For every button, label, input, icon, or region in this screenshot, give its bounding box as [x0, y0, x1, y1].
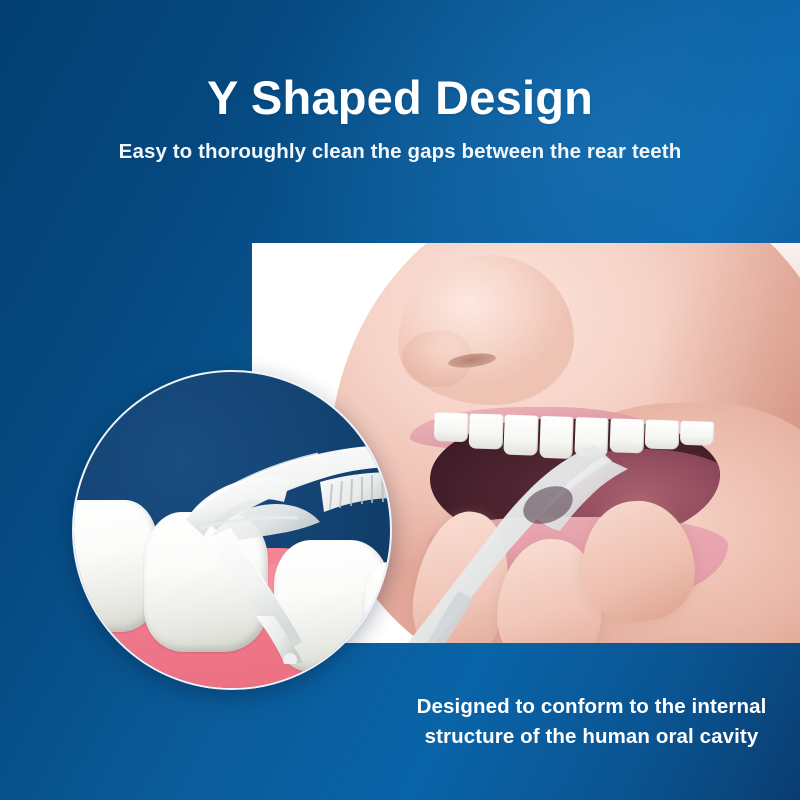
- y-shaped-floss-pick-icon: [134, 424, 392, 664]
- page-title: Y Shaped Design: [0, 72, 800, 125]
- header-block: Y Shaped Design Easy to thoroughly clean…: [0, 72, 800, 164]
- teeth-closeup-circle: [72, 370, 392, 690]
- tooth: [645, 419, 680, 450]
- tooth: [680, 421, 715, 447]
- product-feature-banner: Y Shaped Design Easy to thoroughly clean…: [0, 0, 800, 800]
- caption-block: Designed to conform to the internal stru…: [383, 643, 800, 800]
- caption-line-2: structure of the human oral cavity: [425, 722, 759, 751]
- page-subtitle: Easy to thoroughly clean the gaps betwee…: [0, 140, 800, 164]
- floss-pick-photo-icon: [398, 431, 638, 643]
- caption-line-1: Designed to conform to the internal: [417, 692, 767, 721]
